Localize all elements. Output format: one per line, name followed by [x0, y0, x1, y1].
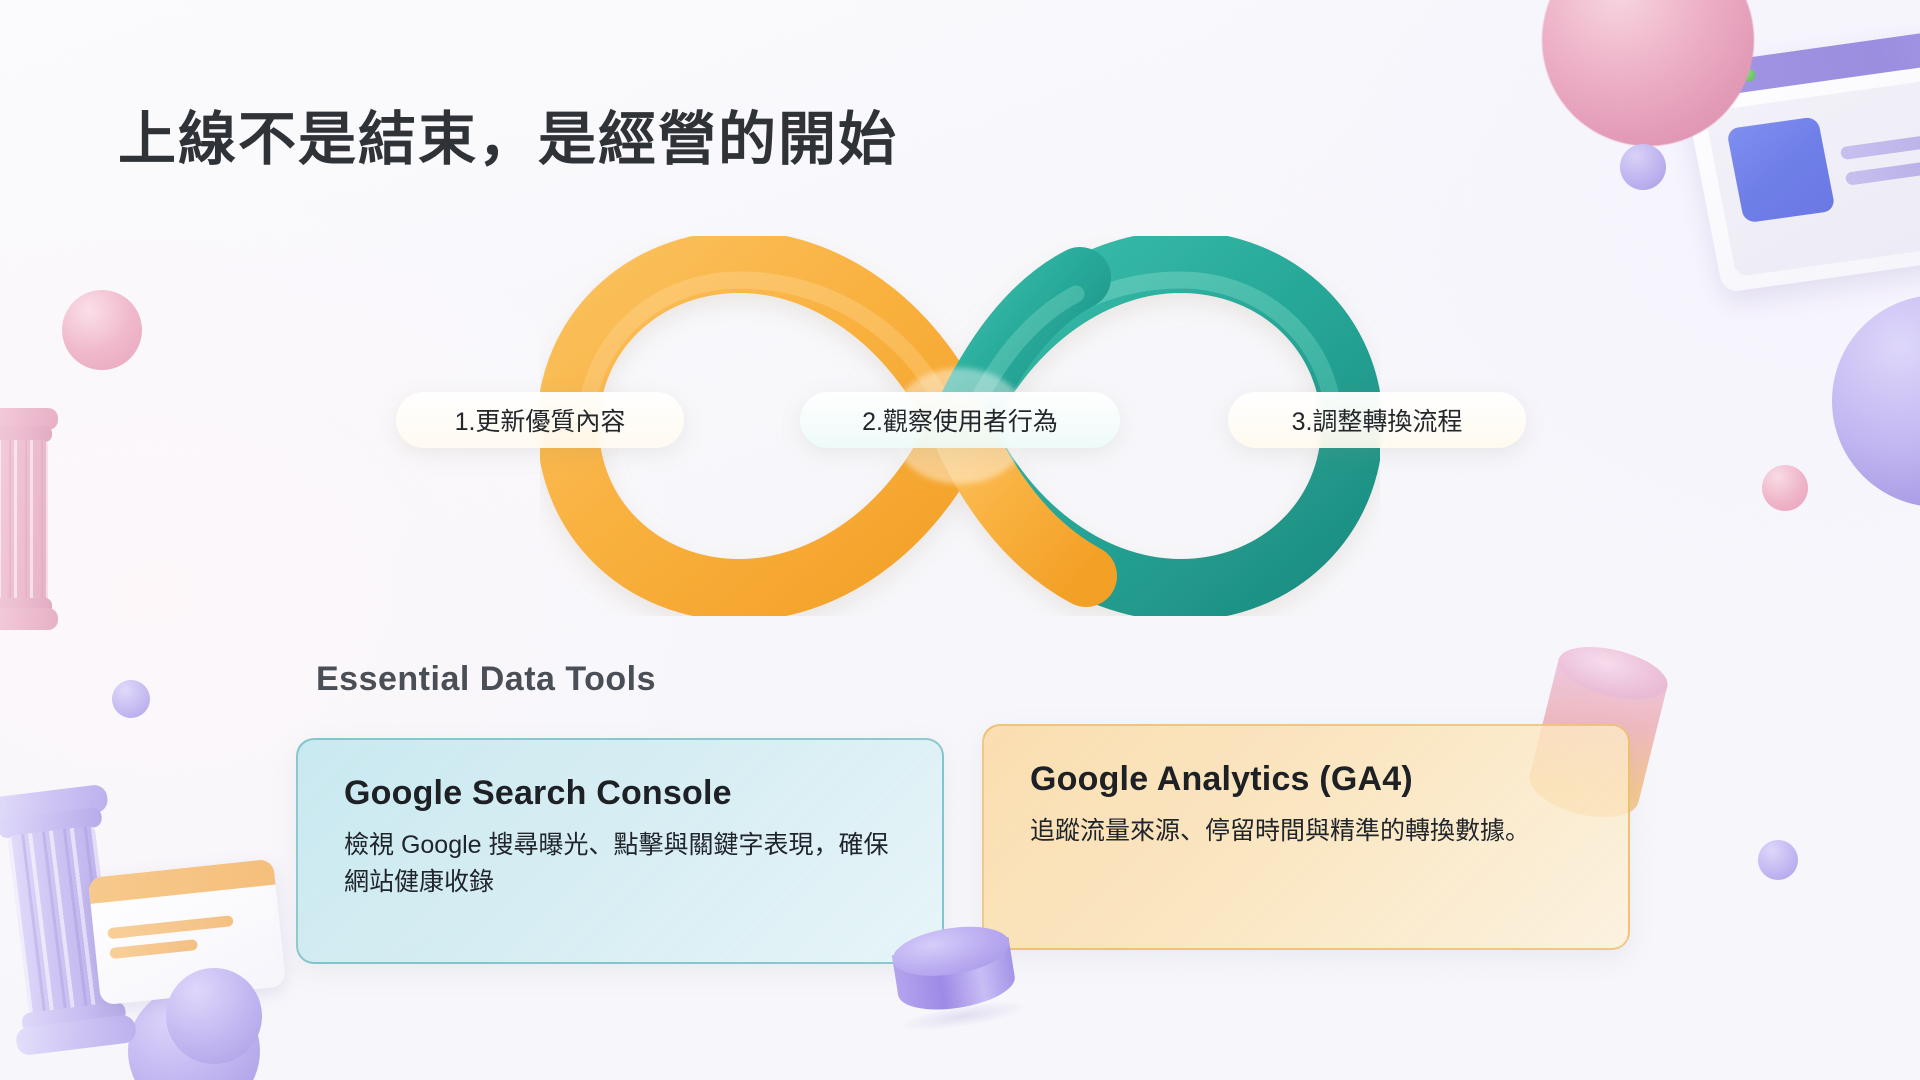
loop-step-label: 3.調整轉換流程: [1292, 402, 1463, 438]
loop-step-label: 1.更新優質內容: [455, 402, 626, 438]
loop-step-pill-2[interactable]: 2.觀察使用者行為: [800, 392, 1120, 448]
mini-card-decoration: [88, 859, 286, 1006]
purple-sphere-decoration: [166, 968, 262, 1064]
section-title: Essential Data Tools: [316, 660, 656, 699]
pink-column-decoration: [0, 408, 48, 644]
browser-content-area: [1704, 70, 1920, 276]
purple-sphere-decoration: [128, 985, 260, 1080]
tool-card-analytics[interactable]: Google Analytics (GA4) 追蹤流量來源、停留時間與精準的轉換…: [982, 724, 1630, 950]
purple-sphere-decoration: [1758, 840, 1798, 880]
purple-sphere-decoration: [1832, 295, 1920, 507]
browser-thumbnail-block: [1726, 116, 1836, 223]
tool-card-description: 追蹤流量來源、停留時間與精準的轉換數據。: [1030, 813, 1586, 850]
purple-column-decoration: [2, 786, 121, 1057]
page-title: 上線不是結束，是經營的開始: [118, 92, 898, 176]
browser-titlebar: [1679, 21, 1920, 100]
browser-text-line: [1840, 130, 1920, 161]
traffic-light-green-icon: [1741, 67, 1756, 82]
traffic-light-red-icon: [1697, 73, 1712, 88]
browser-text-line: [1845, 159, 1920, 186]
purple-sphere-decoration: [1620, 144, 1666, 190]
loop-step-pill-1[interactable]: 1.更新優質內容: [396, 392, 684, 448]
browser-window-decoration: [1679, 21, 1920, 293]
pink-sphere-decoration: [62, 290, 142, 370]
tool-card-title: Google Analytics (GA4): [1030, 760, 1586, 799]
traffic-light-yellow-icon: [1719, 70, 1734, 85]
pink-sphere-decoration: [1542, 0, 1754, 146]
pink-sphere-decoration: [1762, 465, 1808, 511]
purple-sphere-decoration: [112, 680, 150, 718]
tool-card-description: 檢視 Google 搜尋曝光、點擊與關鍵字表現，確保網站健康收錄: [344, 827, 900, 901]
tool-card-title: Google Search Console: [344, 774, 900, 813]
tool-card-search-console[interactable]: Google Search Console 檢視 Google 搜尋曝光、點擊與…: [296, 738, 944, 964]
loop-step-pill-3[interactable]: 3.調整轉換流程: [1228, 392, 1526, 448]
loop-step-label: 2.觀察使用者行為: [862, 402, 1058, 438]
